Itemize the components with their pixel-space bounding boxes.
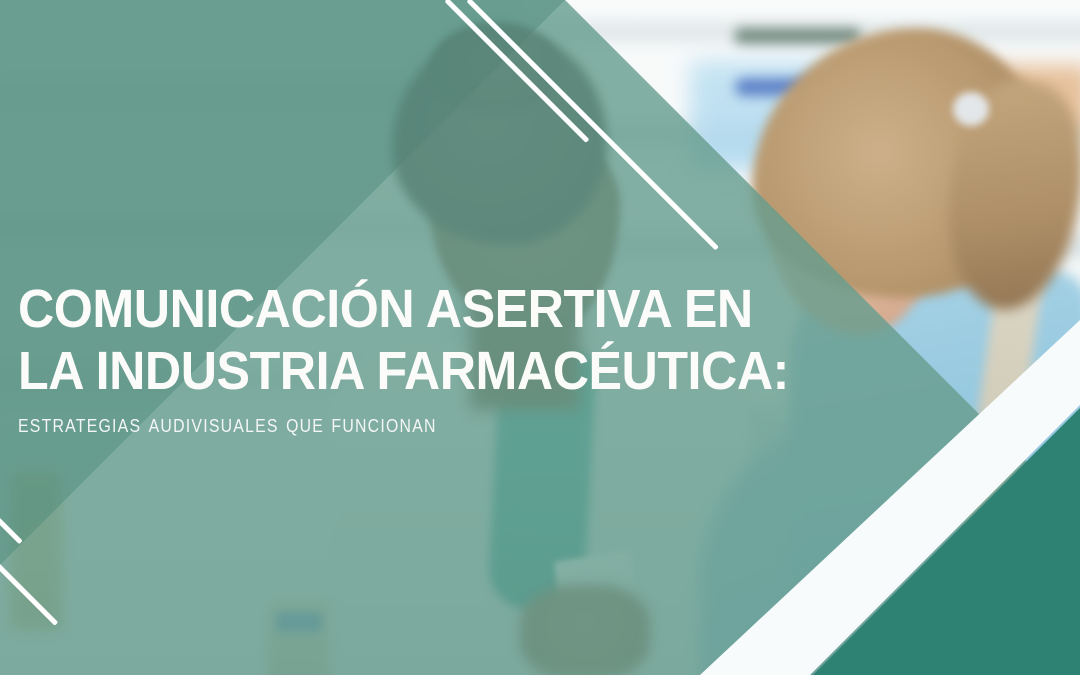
title-line-1: COMUNICACIÓN ASERTIVA EN: [18, 278, 818, 340]
title-line-2: LA INDUSTRIA FARMACÉUTICA:: [18, 340, 818, 402]
headline-block: COMUNICACIÓN ASERTIVA EN LA INDUSTRIA FA…: [18, 278, 878, 439]
photo-customer-hair-tie: [953, 92, 989, 126]
subtitle: Estrategias audivisuales que funcionan: [18, 409, 775, 439]
photo-dark-sign: [735, 28, 860, 44]
promo-banner: COMUNICACIÓN ASERTIVA EN LA INDUSTRIA FA…: [0, 0, 1080, 675]
